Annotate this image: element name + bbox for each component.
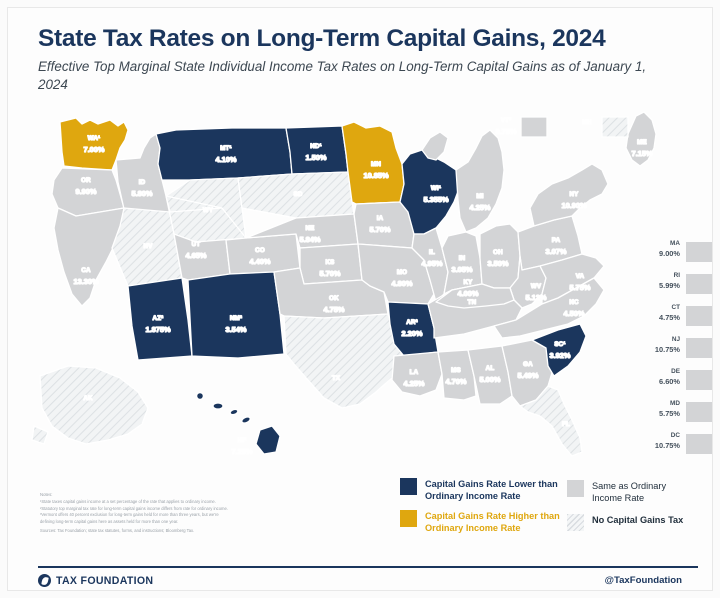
side-dc: DC 10.75% bbox=[620, 432, 680, 451]
state-az[interactable] bbox=[128, 278, 192, 360]
map-legend: Capital Gains Rate Lower than Ordinary I… bbox=[400, 478, 700, 534]
side-ma: MA 9.00% bbox=[620, 240, 680, 259]
state-ks[interactable] bbox=[300, 244, 362, 284]
label-vt-abbr: VT³ bbox=[501, 117, 512, 124]
side-de-rate: 6.60% bbox=[620, 377, 680, 387]
state-wy[interactable] bbox=[166, 178, 246, 242]
side-ct-swatch[interactable] bbox=[686, 306, 712, 326]
legend-none-line1: No Capital Gains Tax bbox=[592, 514, 683, 526]
legend-item-same[interactable]: Same as Ordinary Income Rate bbox=[567, 480, 666, 504]
side-ct-abbr: CT bbox=[671, 304, 680, 311]
us-choropleth-map: WA¹ 7.00% OR 9.90% ID 5.80% MT¹ 4.10% ND… bbox=[24, 108, 712, 468]
state-vt-box[interactable] bbox=[521, 117, 547, 137]
side-de-swatch[interactable] bbox=[686, 370, 712, 390]
state-or[interactable] bbox=[52, 168, 124, 216]
side-ct-rate: 4.75% bbox=[620, 313, 680, 323]
page-subtitle: Effective Top Marginal State Individual … bbox=[38, 58, 658, 94]
infographic-frame: State Tax Rates on Long-Term Capital Gai… bbox=[8, 8, 712, 590]
state-nd[interactable] bbox=[286, 126, 348, 174]
side-dc-abbr: DC bbox=[671, 432, 680, 439]
side-md: MD 5.75% bbox=[620, 400, 680, 419]
note-2: ²Statutory top marginal tax rate for lon… bbox=[40, 506, 370, 513]
side-md-rate: 5.75% bbox=[620, 409, 680, 419]
side-ri-swatch[interactable] bbox=[686, 274, 712, 294]
legend-higher-line1: Capital Gains Rate Higher than bbox=[425, 510, 560, 522]
state-oh[interactable] bbox=[480, 224, 520, 288]
label-hi-rate: 7.25% bbox=[232, 447, 253, 456]
legend-higher-line2: Ordinary Income Rate bbox=[425, 522, 560, 534]
side-dc-rate: 10.75% bbox=[620, 441, 680, 451]
legend-swatch-navy bbox=[400, 478, 417, 495]
tax-foundation-logo-icon bbox=[38, 574, 51, 587]
legend-swatch-gold bbox=[400, 510, 417, 527]
footer-brand[interactable]: TAX FOUNDATION bbox=[38, 574, 153, 587]
side-ri-rate: 5.99% bbox=[620, 281, 680, 291]
state-ny[interactable] bbox=[530, 164, 608, 226]
notes-block: Notes: ¹State taxes capital gains income… bbox=[40, 492, 370, 535]
state-tx[interactable] bbox=[284, 314, 402, 408]
page-title: State Tax Rates on Long-Term Capital Gai… bbox=[38, 26, 698, 53]
state-co[interactable] bbox=[226, 234, 300, 274]
side-nj-rate: 10.75% bbox=[620, 345, 680, 355]
legend-item-higher[interactable]: Capital Gains Rate Higher than Ordinary … bbox=[400, 510, 560, 534]
side-dc-swatch[interactable] bbox=[686, 434, 712, 454]
note-3: ³Vermont offers 40 percent exclusion for… bbox=[40, 512, 370, 519]
note-1: ¹State taxes capital gains income at a s… bbox=[40, 499, 370, 506]
infographic-page: State Tax Rates on Long-Term Capital Gai… bbox=[0, 0, 720, 598]
legend-item-none[interactable]: No Capital Gains Tax bbox=[567, 514, 683, 531]
state-ak[interactable] bbox=[32, 366, 148, 444]
legend-same-line1: Same as Ordinary bbox=[592, 480, 666, 492]
footer-social-handle[interactable]: @TaxFoundation bbox=[605, 575, 682, 586]
note-4: defining long-term capital gains here as… bbox=[40, 519, 370, 526]
side-de: DE 6.60% bbox=[620, 368, 680, 387]
side-ri: RI 5.99% bbox=[620, 272, 680, 291]
footer-org-name: TAX FOUNDATION bbox=[56, 575, 153, 587]
legend-swatch-gray bbox=[567, 480, 584, 497]
footer-divider bbox=[38, 566, 698, 568]
notes-sources: Sources: Tax Foundation; state tax statu… bbox=[40, 528, 370, 535]
side-ma-swatch[interactable] bbox=[686, 242, 712, 262]
side-ri-abbr: RI bbox=[674, 272, 680, 279]
state-mt[interactable] bbox=[156, 128, 292, 180]
side-nj-abbr: NJ bbox=[672, 336, 680, 343]
side-ma-rate: 9.00% bbox=[620, 249, 680, 259]
legend-lower-line2: Ordinary Income Rate bbox=[425, 490, 558, 502]
legend-same-line2: Income Rate bbox=[592, 492, 666, 504]
legend-lower-line1: Capital Gains Rate Lower than bbox=[425, 478, 558, 490]
state-sd[interactable] bbox=[238, 172, 354, 218]
state-nh-box[interactable] bbox=[602, 117, 628, 137]
side-ma-abbr: MA bbox=[670, 240, 680, 247]
side-md-swatch[interactable] bbox=[686, 402, 712, 422]
side-nj-swatch[interactable] bbox=[686, 338, 712, 358]
label-hi-abbr: HI² bbox=[238, 437, 247, 444]
label-vt-rate: 8.75% bbox=[496, 127, 517, 136]
side-de-abbr: DE bbox=[671, 368, 680, 375]
state-nm[interactable] bbox=[188, 272, 284, 358]
legend-item-lower[interactable]: Capital Gains Rate Lower than Ordinary I… bbox=[400, 478, 558, 502]
notes-heading: Notes: bbox=[40, 492, 370, 499]
state-mn[interactable] bbox=[342, 122, 404, 204]
legend-swatch-hatch bbox=[567, 514, 584, 531]
side-ct: CT 4.75% bbox=[620, 304, 680, 323]
state-la[interactable] bbox=[392, 352, 442, 396]
state-me[interactable] bbox=[626, 112, 656, 166]
label-nh-abbr: NH bbox=[582, 119, 592, 126]
state-hi[interactable] bbox=[197, 393, 280, 454]
side-nj: NJ 10.75% bbox=[620, 336, 680, 355]
side-md-abbr: MD bbox=[670, 400, 680, 407]
